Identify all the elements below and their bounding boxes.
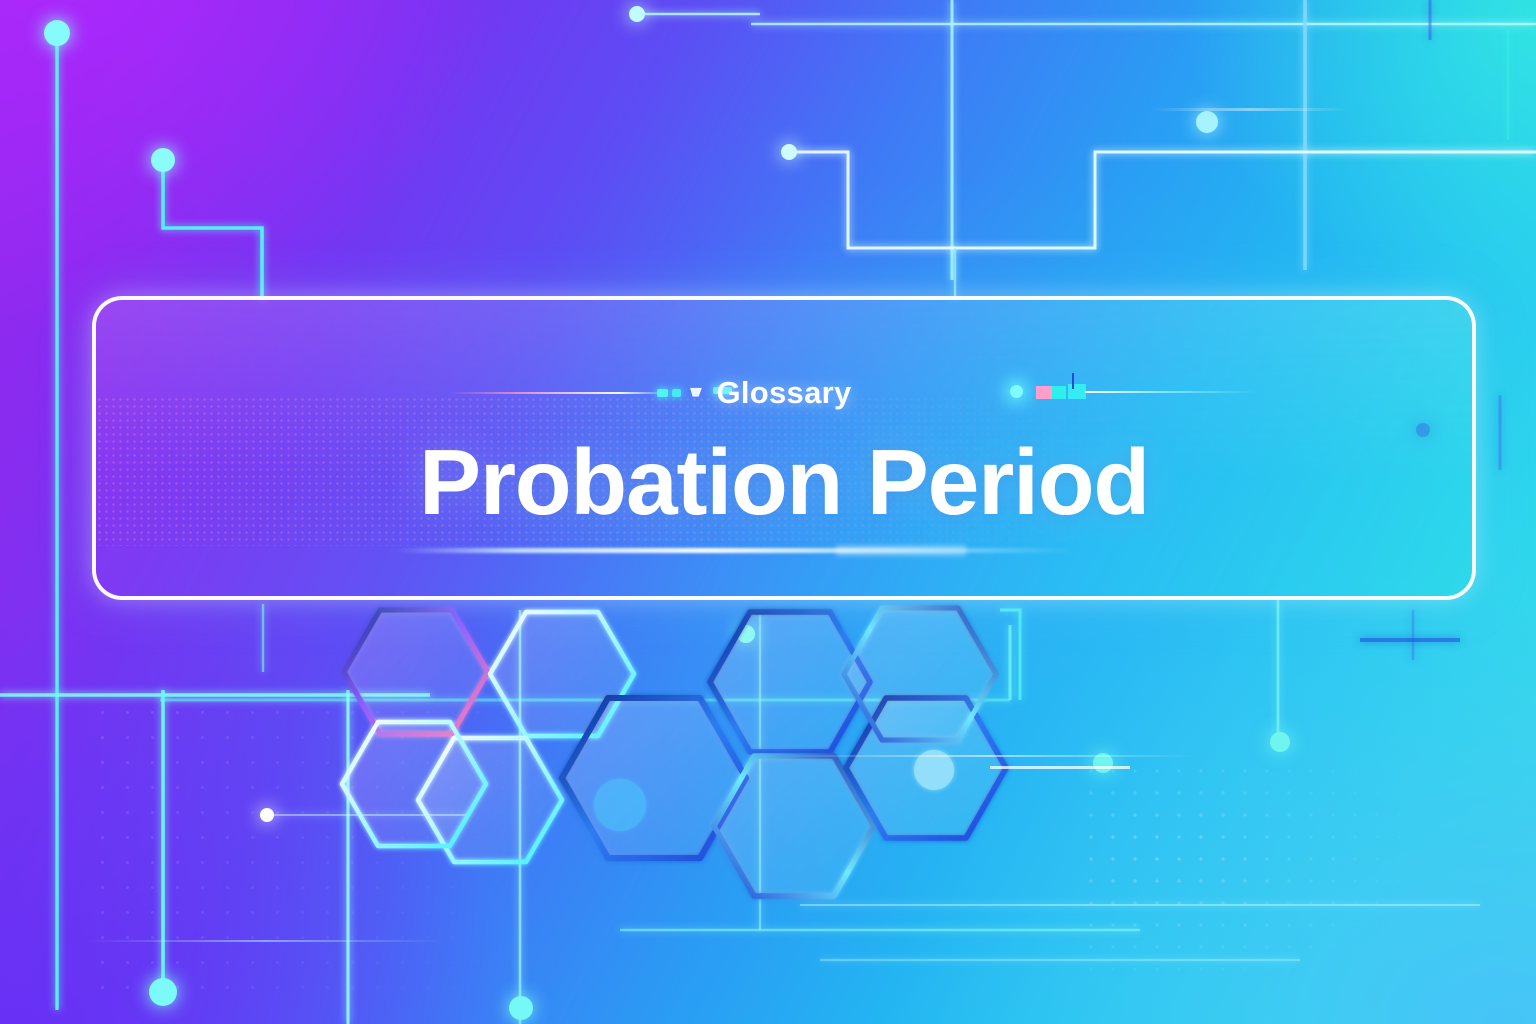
glitch-block-right-2 — [1068, 384, 1086, 399]
glitch-glow-dot-right — [1010, 385, 1023, 398]
circuit-node-dot — [44, 20, 70, 46]
eyebrow-row: Glossary — [96, 367, 1472, 419]
glitch-streak-left — [448, 392, 668, 394]
hexagon-cluster — [330, 590, 1130, 920]
glitch-block-left-1 — [657, 389, 668, 397]
hexagon-highlight — [594, 779, 646, 831]
glitch-block-left-2 — [672, 389, 681, 397]
hexagon-flare-streak — [990, 766, 1130, 769]
circuit-node-dot — [149, 978, 177, 1006]
glitch-block-left-3 — [690, 388, 702, 397]
glitch-streak-right — [1085, 391, 1257, 393]
hexagon-highlight — [914, 750, 954, 790]
circuit-node-dot — [1196, 111, 1218, 133]
circuit-node-dot — [1270, 732, 1290, 752]
circuit-node-dot — [151, 148, 175, 172]
circuit-node-dot — [509, 996, 533, 1020]
hexagon-outline — [344, 610, 488, 734]
eyebrow-label: Glossary — [716, 375, 851, 411]
circuit-node-dot — [629, 6, 645, 22]
circuit-node-dot — [260, 808, 274, 822]
page-title: Probation Period — [419, 435, 1149, 530]
glitch-block-right-pink — [1036, 386, 1052, 399]
glossary-term-card: Glossary Probation Period — [92, 296, 1476, 600]
glitch-tick-right — [1072, 373, 1074, 389]
circuit-node-dot — [781, 144, 797, 160]
banner-canvas: Glossary Probation Period — [0, 0, 1536, 1024]
title-underglow-block — [836, 545, 966, 556]
glitch-block-right-1 — [1052, 386, 1066, 399]
card-content: Glossary Probation Period — [96, 367, 1472, 530]
title-underglow-streak — [396, 548, 1076, 553]
